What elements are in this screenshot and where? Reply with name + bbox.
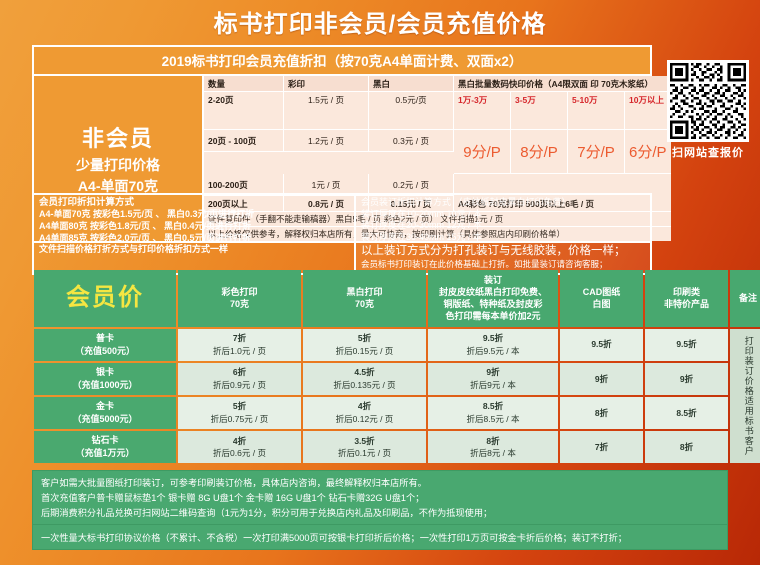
v2: 折后1.0元 / 页: [213, 346, 266, 356]
member-level-1-amount: （充值500元）: [75, 346, 135, 356]
table-row: 普卡 （充值500元） 7折 折后1.0元 / 页 5折 折后0.15元 / 页…: [34, 329, 760, 361]
member-price-table: 会员价 彩色打印 70克 黑白打印 70克 装订 封皮皮纹纸黑白打印免费、 铜版…: [32, 268, 760, 465]
note-right-line-2: 装订厚度在20-30mm 12元 / 本: [361, 220, 645, 232]
note-right-emphasis: 以上装订方式分为打孔装订与无线胶装，价格一样；: [361, 244, 645, 259]
member-level-4-name: 钻石卡: [91, 435, 118, 445]
v4: 折后0.15元 / 页: [336, 346, 394, 356]
v3: 5折: [358, 333, 371, 343]
qr-block: 扫网站查报价: [662, 60, 754, 160]
cell-bw-1: 0.5元/页: [369, 92, 454, 130]
member-level-3-name: 金卡: [96, 401, 114, 411]
qr-caption: 扫网站查报价: [662, 144, 754, 160]
bulk-tier-3: 5-10万: [568, 92, 625, 130]
v5: 8.5折: [483, 401, 503, 411]
cell-print-3: 8.5折: [645, 397, 728, 429]
v3: 4.5折: [354, 367, 374, 377]
header-cad: CAD图纸 白图: [560, 270, 643, 327]
cell-bw-discount-1: 5折 折后0.15元 / 页: [303, 329, 426, 361]
v2: 折后0.75元 / 页: [211, 414, 269, 424]
header-binding-l2: 封皮皮纹纸黑白打印免费、: [439, 287, 547, 297]
v5: 9折: [486, 367, 499, 377]
v1: 7折: [233, 333, 246, 343]
v5: 9.5折: [483, 333, 503, 343]
page-title-bar: 标书打印非会员/会员充值价格: [0, 0, 760, 42]
note-left-line-2: A4单面80克 按彩色1.8元/页 、 黑白0.4元/页进行打折: [39, 221, 349, 233]
cell-bw-2: 0.3元 / 页: [369, 130, 454, 152]
cell-binding-discount-2: 9折 折后9元 / 本: [428, 363, 558, 395]
member-level-2: 银卡 （充值1000元）: [34, 363, 176, 395]
header-bw-print: 黑白打印 70克: [303, 270, 426, 327]
page-title: 标书打印非会员/会员充值价格: [214, 4, 547, 39]
header-print-l2: 非特价产品: [664, 299, 709, 309]
qr-code-svg: [670, 63, 746, 139]
header-print-type: 印刷类 非特价产品: [645, 270, 728, 327]
header-color-print-l2: 70克: [230, 299, 249, 309]
bulk-price-1: 9分/P: [454, 130, 511, 174]
table-row: 2-20页 1.5元 / 页 0.5元/页 1万-3万 3-5万 5-10万 1…: [204, 92, 671, 130]
col-header-bulk: 黑白批量数码快印价格（A4限双面 印 70克木浆纸）: [454, 76, 671, 92]
cell-color-discount-4: 4折 折后0.6元 / 页: [178, 431, 301, 463]
bulk-price-3: 7分/P: [568, 130, 625, 174]
qr-code-icon[interactable]: [667, 60, 749, 142]
member-print-discount-note: 会员打印折扣计算方式 A4-单面70克 按彩色1.5元/页 、 黑白0.3元/页…: [32, 193, 354, 275]
note-left-title: 会员打印折扣计算方式: [39, 197, 349, 209]
cell-bw-discount-3: 4折 折后0.12元 / 页: [303, 397, 426, 429]
header-binding-l1: 装订: [484, 275, 502, 285]
member-level-4-amount: （充值1万元）: [75, 448, 134, 458]
cell-color-discount-2: 6折 折后0.9元 / 页: [178, 363, 301, 395]
header-color-print: 彩色打印 70克: [178, 270, 301, 327]
bulk-tier-2: 3-5万: [511, 92, 568, 130]
v6: 折后9.5元 / 本: [467, 346, 520, 356]
cell-binding-discount-1: 9.5折 折后9.5元 / 本: [428, 329, 558, 361]
member-price-title: 会员价: [34, 270, 176, 327]
note-right-line-3: 装订厚度在30-40mm 15元 / 本: [361, 232, 645, 244]
member-level-3-amount: （充值5000元）: [72, 414, 137, 424]
footer-line-3: 后期消费积分礼品兑换可扫网站二维码查询（1元为1分，积分可用于兑换店内礼品及印刷…: [41, 506, 719, 521]
notes-row: 会员打印折扣计算方式 A4-单面70克 按彩色1.5元/页 、 黑白0.3元/页…: [32, 193, 652, 275]
note-left-line-1: A4-单面70克 按彩色1.5元/页 、 黑白0.3元/页进行打折: [39, 209, 349, 221]
v1: 4折: [233, 436, 246, 446]
member-level-3: 金卡 （充值5000元）: [34, 397, 176, 429]
header-binding: 装订 封皮皮纹纸黑白打印免费、 铜版纸、特种纸及封皮彩 色打印需每本单价加2元: [428, 270, 558, 327]
v1: 6折: [233, 367, 246, 377]
nonmember-label-main: 非会员: [82, 121, 154, 153]
member-level-1-name: 普卡: [96, 333, 114, 343]
v4: 折后0.1元 / 页: [338, 448, 391, 458]
v2: 折后0.6元 / 页: [213, 448, 266, 458]
col-header-color: 彩印: [284, 76, 369, 92]
cell-cad-2: 9折: [560, 363, 643, 395]
v2: 折后0.9元 / 页: [213, 380, 266, 390]
nonmember-label-sub1: 少量打印价格: [76, 155, 160, 175]
cell-color-2: 1.2元 / 页: [284, 130, 369, 152]
v6: 折后8.5元 / 本: [467, 414, 520, 424]
cell-remark: 打印装订价格适用标书客户: [730, 329, 760, 463]
footer-line-1: 客户如需大批量图纸打印装订，可参考印刷装订价格，具体店内咨询，最终解释权归本店所…: [41, 476, 719, 491]
cell-print-1: 9.5折: [645, 329, 728, 361]
member-level-1: 普卡 （充值500元）: [34, 329, 176, 361]
cell-color-discount-3: 5折 折后0.75元 / 页: [178, 397, 301, 429]
v3: 4折: [358, 401, 371, 411]
header-print-l1: 印刷类: [673, 287, 700, 297]
cell-cad-4: 7折: [560, 431, 643, 463]
header-binding-l3: 铜版纸、特种纸及封皮彩: [443, 299, 542, 309]
cell-qty-2: 20页 - 100页: [204, 130, 284, 152]
poster-root: 标书打印非会员/会员充值价格 2019标书打印会员充值折扣（按70克A4单面计费…: [0, 0, 760, 565]
v6: 折后8元 / 本: [470, 448, 516, 458]
cell-binding-discount-4: 8折 折后8元 / 本: [428, 431, 558, 463]
cell-qty-1: 2-20页: [204, 92, 284, 130]
member-binding-discount-note: 会员装订折扣计算方式 （皮纹纸封皮黑白打印免费） 装订厚度在10-20mm 10…: [354, 193, 652, 275]
note-right-title: 会员装订折扣计算方式 （皮纹纸封皮黑白打印免费）: [361, 197, 645, 209]
member-level-4: 钻石卡 （充值1万元）: [34, 431, 176, 463]
table-row: 银卡 （充值1000元） 6折 折后0.9元 / 页 4.5折 折后0.135元…: [34, 363, 760, 395]
member-level-2-name: 银卡: [96, 367, 114, 377]
v4: 折后0.12元 / 页: [336, 414, 394, 424]
cell-cad-3: 8折: [560, 397, 643, 429]
table-row: 钻石卡 （充值1万元） 4折 折后0.6元 / 页 3.5折 折后0.1元 / …: [34, 431, 760, 463]
footer-note-bulk: 一次性量大标书打印协议价格（不累计、不含税）一次打印满5000页可按银卡打印折后…: [32, 524, 728, 550]
bulk-tier-1: 1万-3万: [454, 92, 511, 130]
header-cad-l1: CAD图纸: [583, 287, 621, 297]
header-bw-print-l2: 70克: [355, 299, 374, 309]
cell-bw-discount-4: 3.5折 折后0.1元 / 页: [303, 431, 426, 463]
v5: 8折: [486, 436, 499, 446]
header-remark: 备注: [730, 270, 760, 327]
cell-print-4: 8折: [645, 431, 728, 463]
note-left-line-4: 文件扫描价格打折方式与打印价格折扣方式一样: [39, 244, 349, 256]
v1: 5折: [233, 401, 246, 411]
cell-print-2: 9折: [645, 363, 728, 395]
col-header-bw: 黑白: [369, 76, 454, 92]
footer-notes: 客户如需大批量图纸打印装订，可参考印刷装订价格，具体店内咨询，最终解释权归本店所…: [32, 470, 728, 527]
header-color-print-l1: 彩色打印: [221, 287, 257, 297]
cell-bw-discount-2: 4.5折 折后0.135元 / 页: [303, 363, 426, 395]
price-grid-header-row: 数量 彩印 黑白 黑白批量数码快印价格（A4限双面 印 70克木浆纸）: [204, 76, 671, 92]
footer-line-2: 首次充值客户普卡赠鼠标垫1个 银卡赠 8G U盘1个 金卡赠 16G U盘1个 …: [41, 491, 719, 506]
note-left-line-3: A4单面85克 按彩色2.0元/页 、 黑白0.5元/页进行打折: [39, 233, 349, 245]
v3: 3.5折: [354, 436, 374, 446]
nonmember-panel-header: 2019标书打印会员充值折扣（按70克A4单面计费、双面x2）: [34, 47, 650, 76]
cell-color-discount-1: 7折 折后1.0元 / 页: [178, 329, 301, 361]
v4: 折后0.135元 / 页: [333, 380, 395, 390]
header-cad-l2: 白图: [592, 299, 610, 309]
member-level-2-amount: （充值1000元）: [72, 380, 137, 390]
table-row: 金卡 （充值5000元） 5折 折后0.75元 / 页 4折 折后0.12元 /…: [34, 397, 760, 429]
bulk-price-2: 8分/P: [511, 130, 568, 174]
v6: 折后9元 / 本: [470, 380, 516, 390]
cell-binding-discount-3: 8.5折 折后8.5元 / 本: [428, 397, 558, 429]
header-bw-print-l1: 黑白打印: [346, 287, 382, 297]
note-right-line-1: 装订厚度在10-20mm 10元 / 本: [361, 209, 645, 221]
cell-cad-1: 9.5折: [560, 329, 643, 361]
col-header-qty: 数量: [204, 76, 284, 92]
cell-color-1: 1.5元 / 页: [284, 92, 369, 130]
header-binding-l4: 色打印需每本单价加2元: [445, 311, 540, 321]
member-table-header-row: 会员价 彩色打印 70克 黑白打印 70克 装订 封皮皮纹纸黑白打印免费、 铜版…: [34, 270, 760, 327]
